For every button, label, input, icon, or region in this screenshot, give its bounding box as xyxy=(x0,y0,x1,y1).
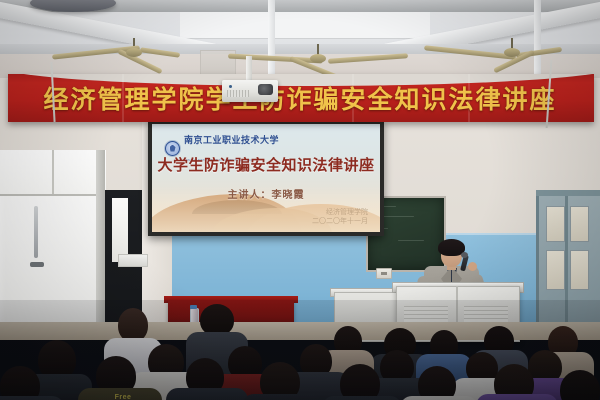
projection-screen: 南京工业职业技术大学 NANJING INSTITUTE OF INDUSTRY… xyxy=(152,124,380,232)
door-panel xyxy=(570,250,589,290)
microphone-head-icon xyxy=(461,252,468,258)
ceiling xyxy=(0,0,600,78)
transom-mullion xyxy=(52,150,54,194)
door-panel xyxy=(546,250,565,290)
jamb-glass-panel xyxy=(112,198,128,262)
door-panel xyxy=(546,206,565,242)
door-handle-icon[interactable] xyxy=(34,206,38,258)
light-switch-plate[interactable] xyxy=(118,254,148,267)
slide-title: 大学生防诈骗安全知识法律讲座 xyxy=(152,154,380,175)
wall-outlet-icon[interactable] xyxy=(376,268,392,279)
projector-mount-rod xyxy=(246,56,252,82)
slide-org-line2: 二〇二〇年十一月 xyxy=(312,217,368,226)
audience-area: Free SPIRIT HIPANDA xyxy=(0,300,600,400)
projector-lens-icon xyxy=(258,84,273,95)
projector-vent xyxy=(227,90,249,97)
university-name-cn: 南京工业职业技术大学 xyxy=(184,136,279,146)
jacket-text-free-spirit: Free SPIRIT xyxy=(98,394,148,400)
door-latch-icon[interactable] xyxy=(30,262,44,267)
slide-speaker-line: 主讲人：李晓霞 xyxy=(152,186,380,201)
chalk-mark xyxy=(398,240,424,241)
ceiling-pillar-center xyxy=(268,0,275,78)
lecture-hall-photo: 南京工业职业技术大学 NANJING INSTITUTE OF INDUSTRY… xyxy=(0,0,600,400)
chalk-mark xyxy=(380,216,414,217)
door-panel xyxy=(570,206,589,242)
speaker-hand xyxy=(468,262,477,271)
slide-organization: 经济管理学院 二〇二〇年十一月 xyxy=(312,208,368,227)
projector-led-icon xyxy=(229,85,232,88)
banner-text: 经济管理学院学工防诈骗安全知识法律讲座 xyxy=(0,76,600,120)
